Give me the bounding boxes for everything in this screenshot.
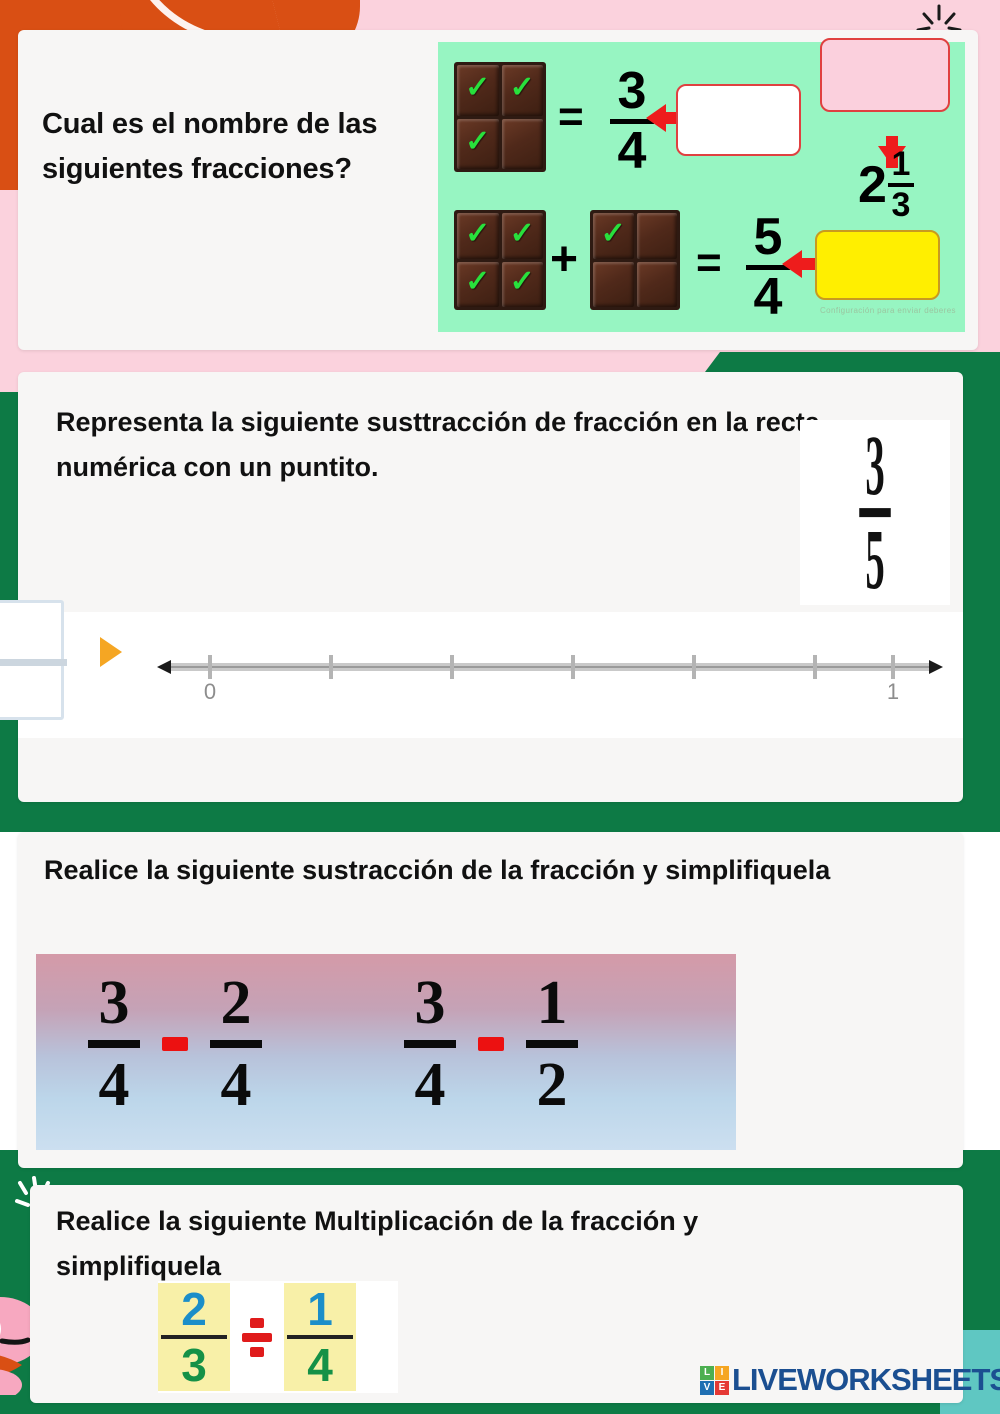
fraction-numerator: 3 [865, 427, 884, 504]
fraction-numerator: 3 [415, 972, 446, 1034]
mixed-number-example: 2 1 3 [858, 148, 914, 223]
number-line-label-0: 0 [204, 679, 216, 704]
fraction-denominator: 5 [865, 521, 884, 598]
fraction-numerator: 3 [618, 66, 647, 117]
division-dot-top [250, 1318, 264, 1328]
arrow-left-icon-row2 [782, 250, 802, 278]
fraction-bar [404, 1040, 456, 1048]
chocolate-cell: ✓ [457, 262, 499, 308]
question-2-text: Representa la siguiente susttracción de … [56, 400, 886, 489]
check-icon: ✓ [465, 267, 490, 297]
mixed-numerator: 1 [891, 148, 910, 181]
fraction-bar [526, 1040, 578, 1048]
fraction-numerator: 5 [754, 212, 783, 263]
fraction-numerator: 1 [537, 972, 568, 1034]
chocolate-cell: ✓ [502, 65, 544, 116]
fraction-denominator: 2 [537, 1054, 568, 1116]
mixed-whole: 2 [858, 155, 887, 215]
number-line[interactable]: 0 1 [155, 645, 945, 705]
number-line-label-1: 1 [887, 679, 899, 704]
logo-tile-e: E [715, 1381, 729, 1395]
fraction-bar [210, 1040, 262, 1048]
minus-sign-2 [478, 1037, 504, 1051]
fraction-one-fourth: 1 4 [284, 1283, 356, 1391]
answer-input-row1[interactable] [676, 84, 801, 156]
fraction-three-fifths-image: 3 5 [800, 420, 950, 605]
chocolate-cell [593, 262, 634, 308]
fraction-numerator: 2 [221, 972, 252, 1034]
expression-1: 3 4 2 4 [88, 972, 262, 1116]
fraction-left-2: 3 4 [404, 972, 456, 1116]
check-icon: ✓ [465, 127, 490, 157]
play-marker-icon [100, 637, 122, 667]
fraction-numerator: 1 [307, 1286, 333, 1332]
number-line-answer-input[interactable] [0, 600, 64, 720]
arrow-left-icon-row1 [646, 104, 666, 132]
mixed-denominator: 3 [891, 189, 910, 222]
fraction-numerator: 2 [181, 1286, 207, 1332]
logo-tile-v: V [700, 1381, 714, 1395]
chocolate-bar-row2-b: ✓ [590, 210, 680, 310]
logo-tile-i: I [715, 1366, 729, 1380]
section-3-card: Realice la siguiente sustracción de la f… [18, 832, 963, 1168]
chocolate-cell: ✓ [457, 119, 499, 170]
question-1-text: Cual es el nombre de las siguientes frac… [42, 102, 422, 192]
chocolate-cell [502, 119, 544, 170]
answer-input-row2[interactable] [815, 230, 940, 300]
answer-input-mixed-number[interactable] [820, 38, 950, 112]
division-dot-bottom [250, 1347, 264, 1357]
fraction-right-1: 2 4 [210, 972, 262, 1116]
panel-watermark: Configuración para enviar deberes [820, 306, 956, 315]
chocolate-cell [637, 213, 678, 259]
fraction-denominator: 4 [754, 272, 783, 323]
plus-sign: + [550, 232, 578, 287]
division-expression: 2 3 1 4 [158, 1281, 398, 1393]
fraction-two-thirds: 2 3 [158, 1283, 230, 1391]
equals-sign-row1: = [558, 92, 584, 142]
chocolate-cell [637, 262, 678, 308]
division-sign-icon [234, 1318, 280, 1357]
liveworksheets-logo[interactable]: L I V E LIVEWORKSHEETS [700, 1362, 1000, 1398]
fraction-denominator: 4 [307, 1342, 333, 1388]
chocolate-cell: ✓ [502, 213, 544, 259]
fraction-denominator: 3 [181, 1342, 207, 1388]
logo-tiles: L I V E [700, 1366, 729, 1395]
answer-frame-divider [0, 659, 67, 666]
fraction-denominator: 4 [221, 1054, 252, 1116]
fraction-denominator: 4 [618, 126, 647, 177]
check-icon: ✓ [465, 219, 490, 249]
chocolate-cell: ✓ [502, 262, 544, 308]
question-4-text: Realice la siguiente Multiplicación de l… [56, 1199, 856, 1288]
check-icon: ✓ [465, 73, 490, 103]
logo-tile-l: L [700, 1366, 714, 1380]
chocolate-cell: ✓ [593, 213, 634, 259]
fraction-bar [88, 1040, 140, 1048]
fraction-left-1: 3 4 [88, 972, 140, 1116]
section-1-card: Cual es el nombre de las siguientes frac… [18, 30, 978, 350]
chocolate-bar-row1: ✓ ✓ ✓ [454, 62, 546, 172]
check-icon: ✓ [510, 73, 535, 103]
equals-sign-row2: = [696, 238, 722, 288]
chocolate-cell: ✓ [457, 65, 499, 116]
chocolate-bar-row2-a: ✓ ✓ ✓ ✓ [454, 210, 546, 310]
question-3-text: Realice la siguiente sustracción de la f… [44, 848, 934, 893]
check-icon: ✓ [510, 219, 535, 249]
logo-text: LIVEWORKSHEETS [732, 1362, 1000, 1398]
chocolate-fraction-panel: ✓ ✓ ✓ = 3 4 2 1 [438, 42, 965, 332]
fraction-denominator: 4 [99, 1054, 130, 1116]
check-icon: ✓ [601, 219, 626, 249]
fraction-denominator: 4 [415, 1054, 446, 1116]
number-line-right-arrow [929, 660, 943, 674]
mixed-fraction: 1 3 [888, 148, 914, 223]
number-line-left-arrow [157, 660, 171, 674]
expression-2: 3 4 1 2 [404, 972, 578, 1116]
chocolate-cell: ✓ [457, 213, 499, 259]
fraction-numerator: 3 [99, 972, 130, 1034]
worksheet-page: Cual es el nombre de las siguientes frac… [0, 0, 1000, 1414]
check-icon: ✓ [510, 267, 535, 297]
fraction-expressions-band: 3 4 2 4 3 4 1 [36, 954, 736, 1150]
division-bar [242, 1333, 272, 1342]
minus-sign-1 [162, 1037, 188, 1051]
fraction-right-2: 1 2 [526, 972, 578, 1116]
